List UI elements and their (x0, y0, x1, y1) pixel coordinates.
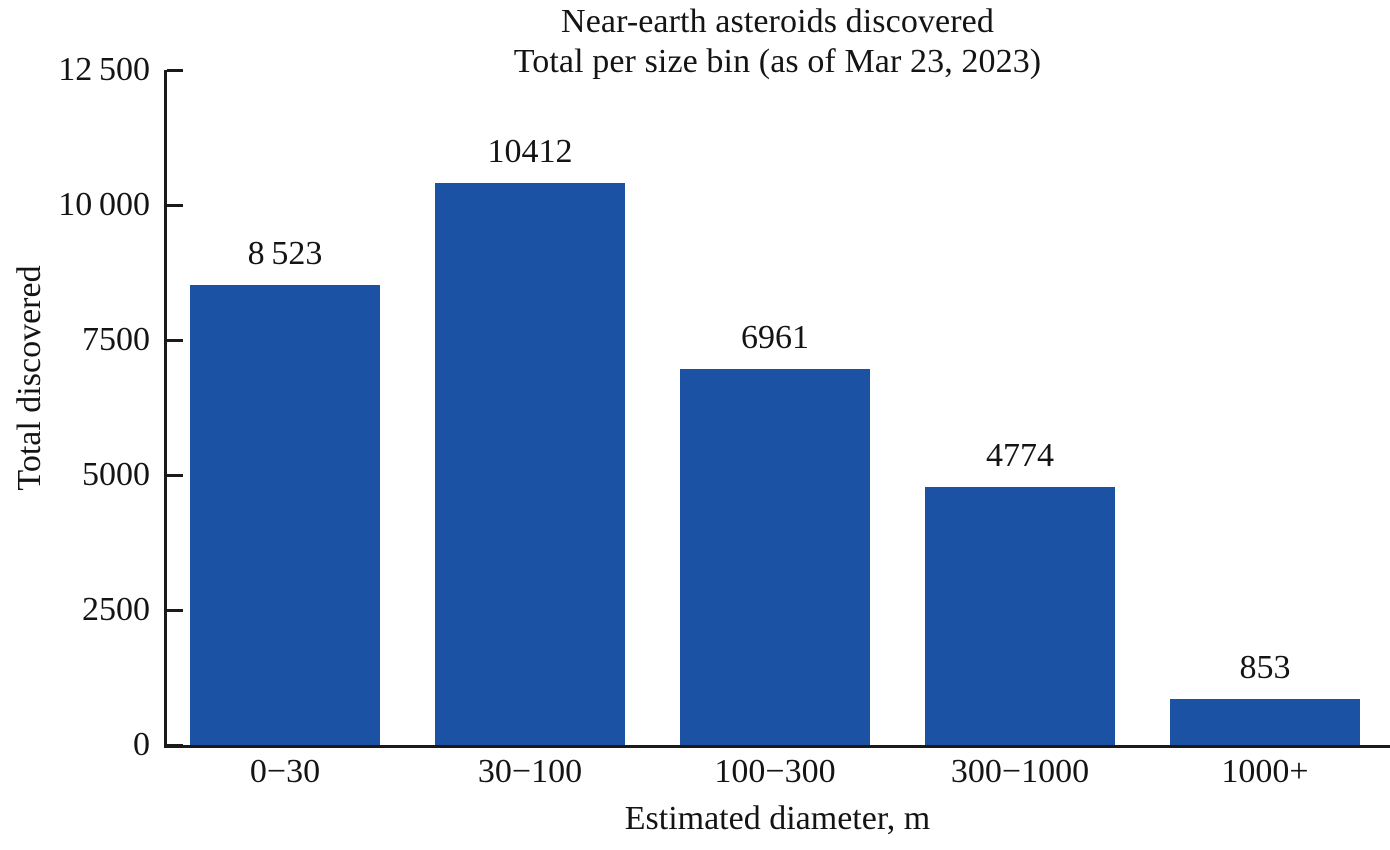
x-axis-category-label: 30−100 (435, 753, 625, 791)
bar-value-label: 10412 (435, 135, 625, 169)
y-axis-tick (167, 474, 183, 477)
bar-value-label: 4774 (925, 439, 1115, 473)
y-axis-tick (167, 339, 183, 342)
bar-value-label: 6961 (680, 321, 870, 355)
y-axis-tick (167, 744, 183, 747)
y-axis-tick-label: 12 500 (0, 53, 150, 87)
bar[interactable] (435, 183, 625, 745)
plot-area: 025005000750010 00012 500 8 523104126961… (0, 0, 1390, 850)
y-axis-tick-label: 2500 (0, 593, 150, 627)
chart-figure: Near-earth asteroids discovered Total pe… (0, 0, 1390, 850)
y-axis-tick-label: 10 000 (0, 188, 150, 222)
x-axis-title: Estimated diameter, m (165, 800, 1390, 838)
x-axis-category-label: 100−300 (680, 753, 870, 791)
x-axis-category-label: 0−30 (190, 753, 380, 791)
bar[interactable] (925, 487, 1115, 745)
y-axis-line (164, 70, 167, 748)
y-axis-tick (167, 204, 183, 207)
bar-value-label: 853 (1170, 651, 1360, 685)
x-axis-category-label: 1000+ (1170, 753, 1360, 791)
y-axis-tick (167, 609, 183, 612)
x-axis-category-label: 300−1000 (925, 753, 1115, 791)
y-axis-tick (167, 69, 183, 72)
bar[interactable] (190, 285, 380, 745)
y-axis-tick-label: 7500 (0, 323, 150, 357)
y-axis-tick-label: 0 (0, 728, 150, 762)
y-axis-tick-label: 5000 (0, 458, 150, 492)
bar[interactable] (1170, 699, 1360, 745)
x-axis-line (164, 745, 1390, 748)
bar-value-label: 8 523 (190, 237, 380, 271)
bar[interactable] (680, 369, 870, 745)
